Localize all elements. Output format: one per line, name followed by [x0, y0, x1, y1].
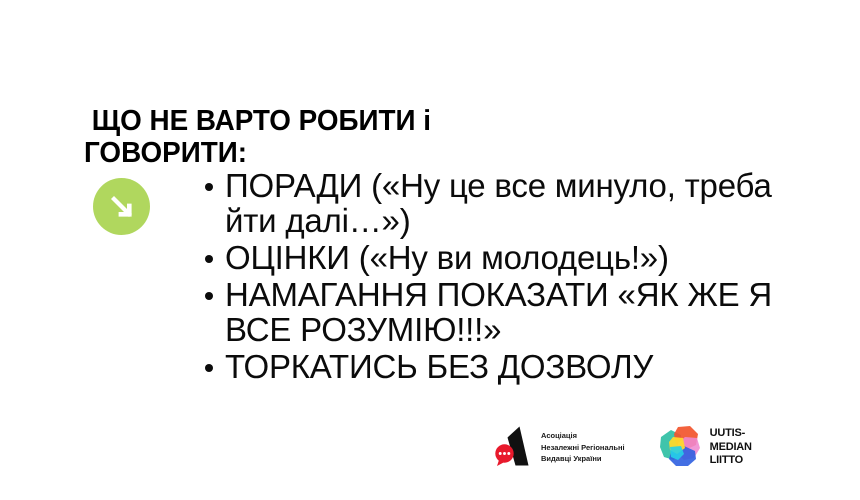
- footer-logos: Асоціація Незалежні Регіональні Видавці …: [494, 424, 752, 468]
- speech-bubble-a-icon: [494, 424, 534, 468]
- bullet-list: ПОРАДИ («Ну це все минуло, треба йти дал…: [197, 168, 797, 386]
- list-item: НАМАГАННЯ ПОКАЗАТИ «ЯК ЖЕ Я ВСЕ РОЗУМІЮ!…: [197, 277, 797, 347]
- uml-line-2: MEDIAN: [710, 441, 752, 455]
- list-item: ПОРАДИ («Ну це все минуло, треба йти дал…: [197, 168, 797, 238]
- slide-canvas: ЩО НЕ ВАРТО РОБИТИ і ГОВОРИТИ: ПОРАДИ («…: [0, 0, 860, 500]
- association-line-3: Видавці України: [541, 453, 625, 465]
- list-item: ОЦІНКИ («Ну ви молодець!»): [197, 240, 797, 275]
- association-logo-text: Асоціація Незалежні Регіональні Видавці …: [541, 424, 625, 465]
- page-title: ЩО НЕ ВАРТО РОБИТИ і ГОВОРИТИ:: [84, 105, 583, 169]
- uutismedian-liitto-logo: UUTIS- MEDIAN LIITTO: [658, 424, 752, 468]
- association-line-1: Асоціація: [541, 430, 625, 442]
- association-line-2: Незалежні Регіональні: [541, 442, 625, 454]
- uml-line-1: UUTIS-: [710, 427, 752, 441]
- arrow-down-right-badge: [93, 178, 150, 235]
- uml-line-3: LIITTO: [710, 454, 752, 468]
- association-logo: Асоціація Незалежні Регіональні Видавці …: [494, 424, 625, 468]
- color-petals-icon: [658, 424, 702, 468]
- uutismedian-liitto-text: UUTIS- MEDIAN LIITTO: [710, 424, 752, 468]
- list-item: ТОРКАТИСЬ БЕЗ ДОЗВОЛУ: [197, 349, 797, 384]
- arrow-down-right-icon: [107, 192, 137, 222]
